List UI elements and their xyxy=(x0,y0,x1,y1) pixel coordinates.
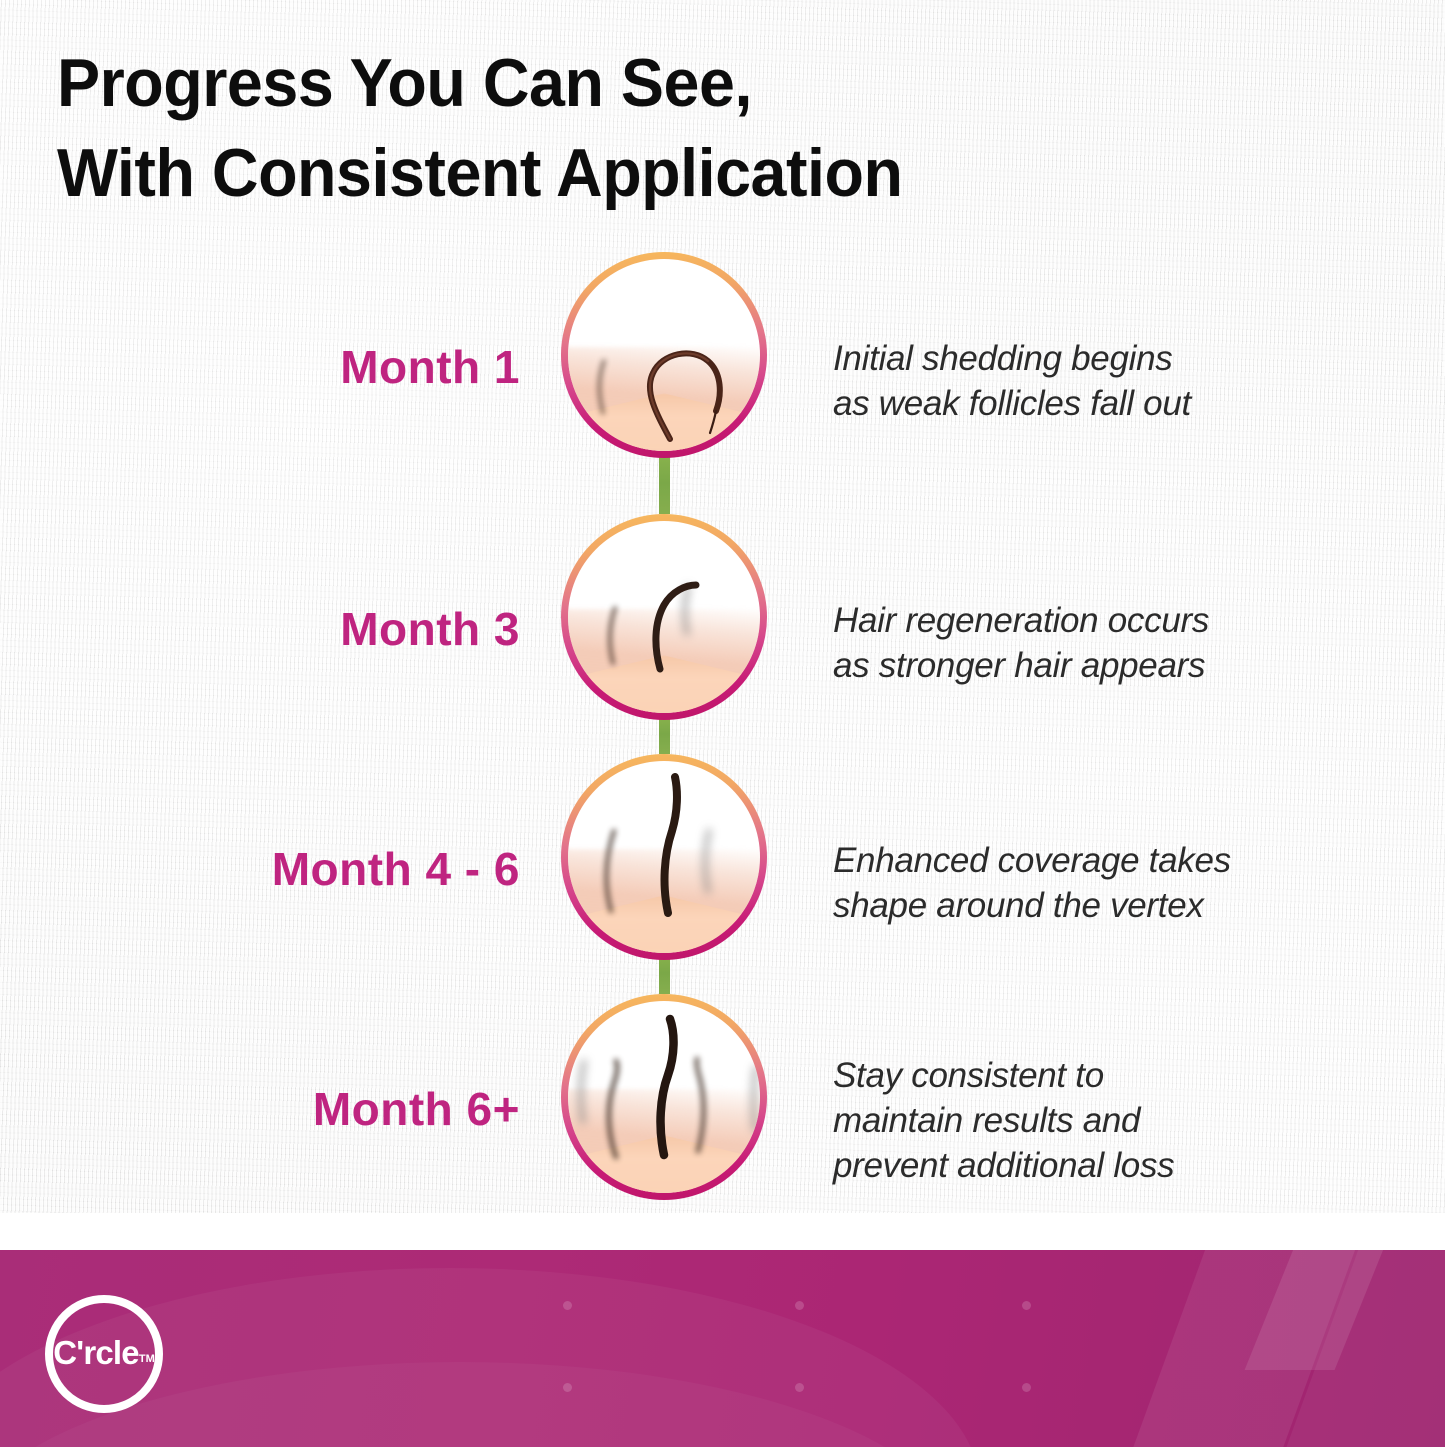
brand-footer xyxy=(0,1250,1445,1447)
footer-dot xyxy=(563,1301,572,1310)
gradient-ring xyxy=(561,252,767,458)
ring-inner xyxy=(568,1001,760,1193)
brand-logo[interactable]: C'rcleTM xyxy=(45,1295,163,1413)
ring-inner xyxy=(568,259,760,451)
footer-dot xyxy=(563,1383,572,1392)
footer-diagonal-band-c xyxy=(1245,1250,1416,1370)
left-hair-icon xyxy=(600,1059,630,1159)
illustration-month-3 xyxy=(561,514,767,720)
footer-dot xyxy=(1022,1383,1031,1392)
ring-inner xyxy=(568,521,760,713)
illustration-month-6-plus xyxy=(561,994,767,1200)
footer-dot xyxy=(795,1383,804,1392)
timeline-step-month-1[interactable]: Month 1 xyxy=(0,252,1445,464)
footer-diagonal-band-b xyxy=(1260,1250,1445,1447)
fallen-hair-strand-icon xyxy=(626,329,731,441)
multiple-hairs-density-icon xyxy=(648,1017,692,1157)
gradient-ring xyxy=(561,994,767,1200)
progress-timeline: Month 1 xyxy=(0,252,1445,1202)
illustration-month-1 xyxy=(561,252,767,458)
background-hair-icon xyxy=(744,1065,760,1131)
side-hair-icon xyxy=(602,603,626,665)
gradient-ring xyxy=(561,754,767,960)
step-description-month-1: Initial shedding begins as weak follicle… xyxy=(833,337,1393,427)
step-label-month-6-plus: Month 6+ xyxy=(120,1082,520,1136)
timeline-step-month-4-6[interactable]: Month 4 - 6 xyxy=(0,754,1445,966)
footer-dot xyxy=(795,1301,804,1310)
step-description-month-3: Hair regeneration occurs as stronger hai… xyxy=(833,599,1393,689)
timeline-step-month-6-plus[interactable]: Month 6+ xyxy=(0,994,1445,1206)
page-title: Progress You Can See, With Consistent Ap… xyxy=(57,38,1226,219)
footer-dot xyxy=(1022,1301,1031,1310)
logo-word: C'rcle xyxy=(53,1334,139,1371)
illustration-month-4-6 xyxy=(561,754,767,960)
trademark-symbol: TM xyxy=(139,1353,155,1365)
footer-diagonal-band-a xyxy=(1110,1250,1369,1447)
gradient-ring xyxy=(561,514,767,720)
thicker-hair-strand-icon xyxy=(654,775,696,915)
step-label-month-3: Month 3 xyxy=(120,602,520,656)
infographic-page: Progress You Can See, With Consistent Ap… xyxy=(0,0,1445,1447)
step-description-month-6-plus: Stay consistent to maintain results and … xyxy=(833,1054,1393,1188)
step-label-month-1: Month 1 xyxy=(120,340,520,394)
ring-inner xyxy=(568,761,760,953)
step-label-month-4-6: Month 4 - 6 xyxy=(120,842,520,896)
background-hair-icon xyxy=(696,827,720,893)
single-regrown-hair-icon xyxy=(650,579,704,671)
step-description-month-4-6: Enhanced coverage takes shape around the… xyxy=(833,839,1393,929)
logo-wordmark: C'rcleTM xyxy=(45,1334,163,1372)
white-divider xyxy=(0,1213,1445,1250)
side-hair-icon xyxy=(598,827,626,913)
background-hair-icon xyxy=(572,1059,594,1123)
side-hair-icon xyxy=(590,355,616,415)
timeline-step-month-3[interactable]: Month 3 xyxy=(0,514,1445,726)
